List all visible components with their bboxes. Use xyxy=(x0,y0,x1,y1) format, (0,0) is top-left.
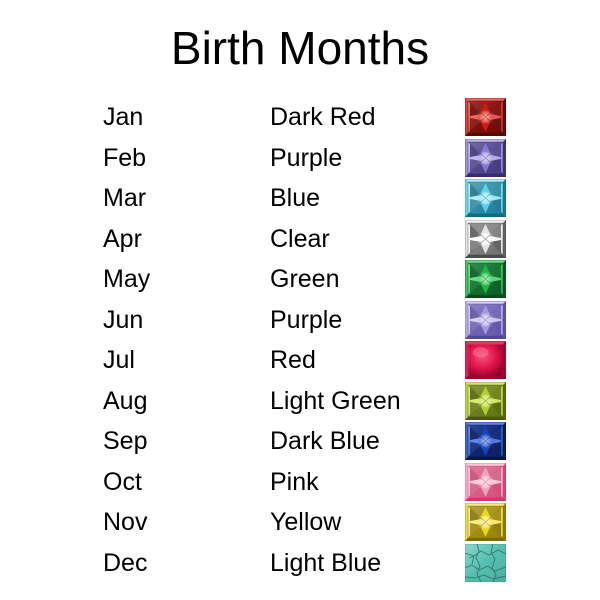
table-row: AugLight Green xyxy=(0,384,600,425)
gemstone-icon xyxy=(465,463,506,503)
gemstone-icon xyxy=(465,544,506,584)
month-label: May xyxy=(103,262,150,296)
color-label: Red xyxy=(270,343,316,377)
color-label: Light Green xyxy=(270,384,401,418)
page-title: Birth Months xyxy=(0,22,600,74)
gemstone-icon xyxy=(465,301,506,341)
color-label: Light Blue xyxy=(270,546,381,580)
month-label: Jun xyxy=(103,303,143,337)
month-label: Oct xyxy=(103,465,142,499)
table-row: SepDark Blue xyxy=(0,424,600,465)
table-row: MarBlue xyxy=(0,181,600,222)
color-label: Dark Red xyxy=(270,100,376,134)
gemstone-swatch xyxy=(465,179,506,217)
color-label: Dark Blue xyxy=(270,424,380,458)
birth-months-chart: Birth Months JanDark Red xyxy=(0,0,600,600)
gemstone-swatch xyxy=(465,382,506,420)
gemstone-swatch xyxy=(465,503,506,541)
color-label: Green xyxy=(270,262,339,296)
month-label: Aug xyxy=(103,384,147,418)
month-label: Jan xyxy=(103,100,143,134)
gemstone-swatch xyxy=(465,98,506,136)
gemstone-swatch xyxy=(465,463,506,501)
gemstone-swatch xyxy=(465,301,506,339)
gemstone-swatch xyxy=(465,341,506,379)
gemstone-swatch xyxy=(465,544,506,582)
gemstone-icon xyxy=(465,341,506,381)
gemstone-swatch xyxy=(465,139,506,177)
table-row: FebPurple xyxy=(0,141,600,182)
month-label: Mar xyxy=(103,181,146,215)
month-label: Apr xyxy=(103,222,142,256)
gemstone-swatch xyxy=(465,260,506,298)
table-row: NovYellow xyxy=(0,505,600,546)
gemstone-swatch xyxy=(465,220,506,258)
month-label: Nov xyxy=(103,505,147,539)
month-label: Jul xyxy=(103,343,135,377)
table-row: MayGreen xyxy=(0,262,600,303)
gemstone-icon xyxy=(465,220,506,260)
month-list: JanDark Red xyxy=(0,100,600,586)
gemstone-icon xyxy=(465,382,506,422)
gemstone-swatch xyxy=(465,422,506,460)
gemstone-icon xyxy=(465,503,506,543)
color-label: Clear xyxy=(270,222,330,256)
table-row: OctPink xyxy=(0,465,600,506)
table-row: AprClear xyxy=(0,222,600,263)
color-label: Purple xyxy=(270,141,342,175)
color-label: Yellow xyxy=(270,505,341,539)
month-label: Feb xyxy=(103,141,146,175)
color-label: Pink xyxy=(270,465,319,499)
gemstone-icon xyxy=(465,98,506,138)
month-label: Dec xyxy=(103,546,147,580)
gemstone-icon xyxy=(465,260,506,300)
color-label: Blue xyxy=(270,181,320,215)
gemstone-icon xyxy=(465,139,506,179)
table-row: DecLight Blue xyxy=(0,546,600,587)
table-row: JanDark Red xyxy=(0,100,600,141)
gemstone-icon xyxy=(465,179,506,219)
month-label: Sep xyxy=(103,424,147,458)
color-label: Purple xyxy=(270,303,342,337)
table-row: JunPurple xyxy=(0,303,600,344)
gemstone-icon xyxy=(465,422,506,462)
table-row: JulRed xyxy=(0,343,600,384)
